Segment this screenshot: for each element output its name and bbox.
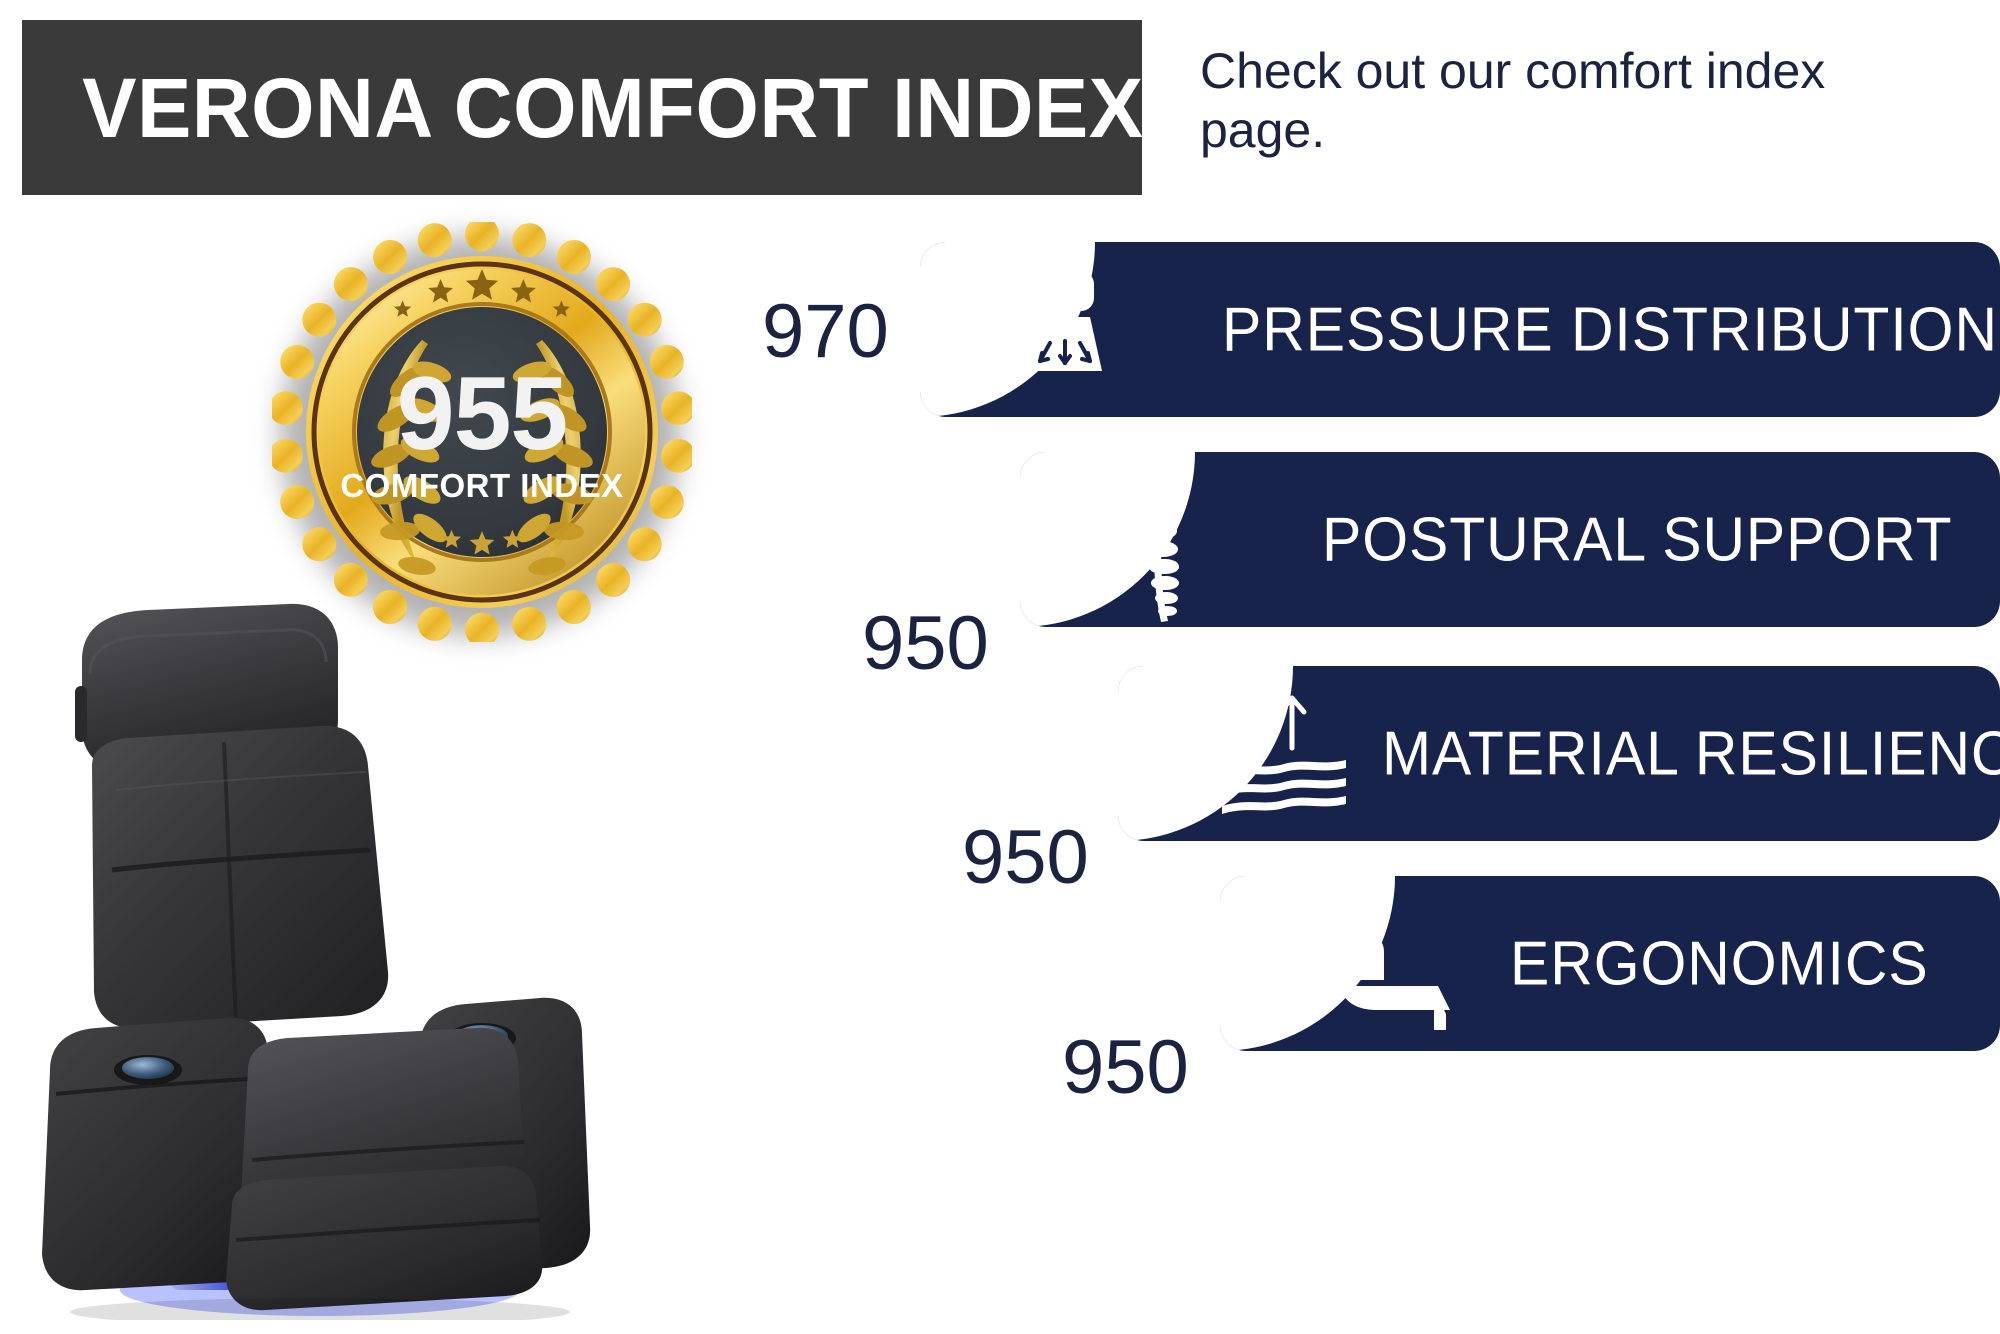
pressure-distribution-icon <box>1010 265 1120 395</box>
metric-row-material-resiliency: 950 MATERIAL RESILIENCY <box>0 666 2000 841</box>
header-title-band: VERONA COMFORT INDEX <box>22 20 1142 195</box>
metric-label-postural-support: POSTURAL SUPPORT <box>1322 504 1953 575</box>
metric-label-ergonomics: ERGONOMICS <box>1510 928 1929 999</box>
left-cupholder <box>122 1057 174 1079</box>
metric-row-ergonomics: 950 ERGONOMICS <box>0 876 2000 1051</box>
metric-row-pressure-distribution: 970 PRESSURE DISTRIBUTION <box>0 242 2000 417</box>
page-title: VERONA COMFORT INDEX <box>22 66 1144 150</box>
spine-icon <box>1120 455 1200 625</box>
metric-score-pressure-distribution: 970 <box>762 288 889 375</box>
header-note: Check out our comfort index page. <box>1200 42 1930 160</box>
metric-row-postural-support: 950 POSTURAL SUPPORT <box>0 452 2000 627</box>
seated-person-icon <box>1318 894 1458 1034</box>
metric-label-material-resiliency: MATERIAL RESILIENCY <box>1382 718 2000 789</box>
metric-label-pressure-distribution: PRESSURE DISTRIBUTION <box>1222 294 1998 365</box>
metric-score-ergonomics: 950 <box>1062 1024 1189 1111</box>
layers-arrows-icon <box>1208 684 1358 824</box>
